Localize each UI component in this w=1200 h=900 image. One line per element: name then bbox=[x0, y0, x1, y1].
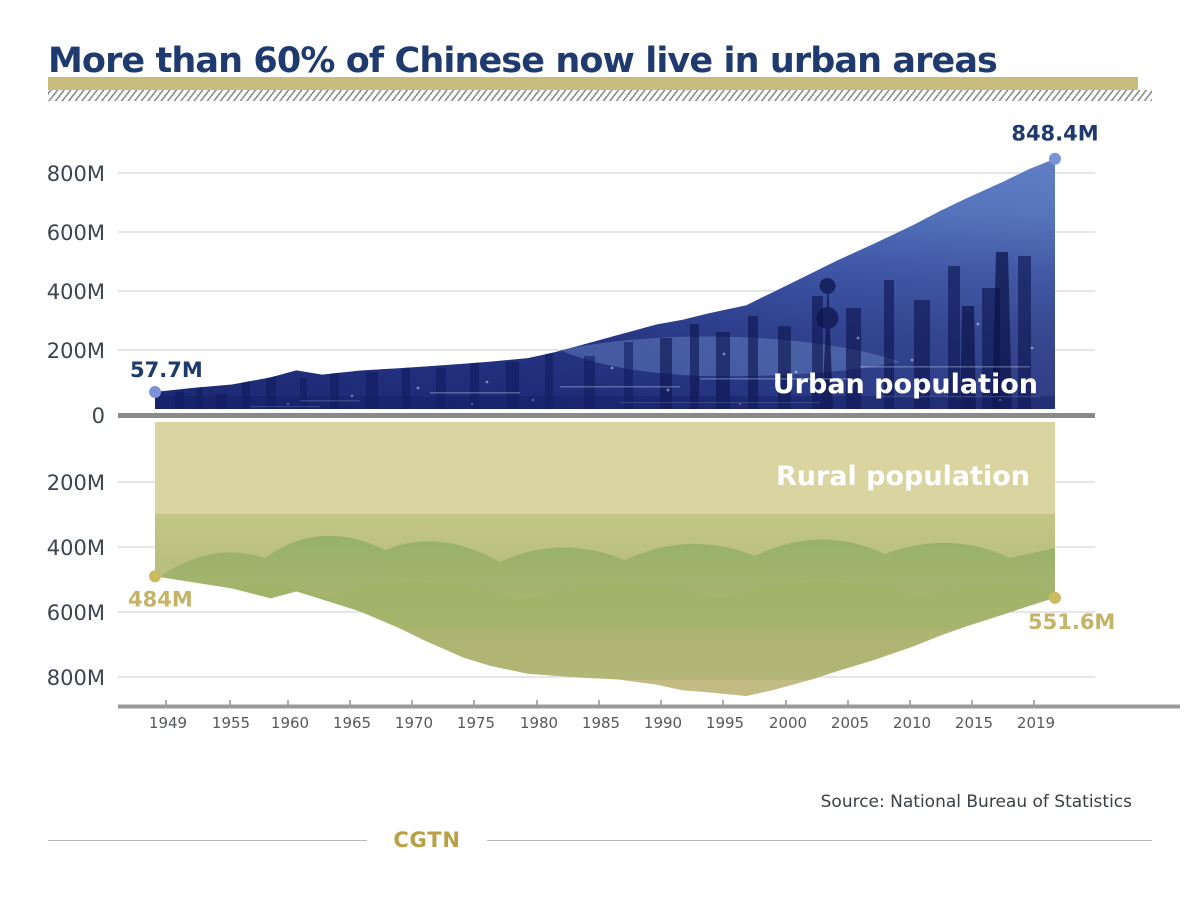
svg-text:1990: 1990 bbox=[644, 714, 682, 732]
population-area-chart: Urban population Rural population 800M 6… bbox=[0, 110, 1200, 750]
marker-rural-start bbox=[149, 570, 161, 582]
svg-text:1985: 1985 bbox=[582, 714, 620, 732]
y-axis-urban: 800M 600M 400M 200M 0 bbox=[47, 162, 105, 428]
marker-urban-end bbox=[1049, 153, 1061, 165]
svg-text:0: 0 bbox=[92, 404, 105, 428]
annotation-rural-start: 484M bbox=[128, 587, 193, 611]
annotation-rural-end: 551.6M bbox=[1028, 610, 1115, 634]
svg-text:1965: 1965 bbox=[333, 714, 371, 732]
svg-text:800M: 800M bbox=[47, 162, 105, 186]
svg-text:600M: 600M bbox=[47, 601, 105, 625]
svg-text:1949: 1949 bbox=[149, 714, 187, 732]
svg-text:200M: 200M bbox=[47, 339, 105, 363]
svg-text:1980: 1980 bbox=[520, 714, 558, 732]
svg-text:400M: 400M bbox=[47, 280, 105, 304]
x-axis-tick-labels: 1949 1955 1960 1965 1970 1975 1980 1985 … bbox=[149, 714, 1055, 732]
svg-text:600M: 600M bbox=[47, 221, 105, 245]
marker-rural-end bbox=[1049, 592, 1061, 604]
svg-text:2010: 2010 bbox=[893, 714, 931, 732]
svg-text:1960: 1960 bbox=[271, 714, 309, 732]
svg-text:2005: 2005 bbox=[831, 714, 869, 732]
series-label-urban: Urban population bbox=[773, 369, 1038, 400]
footer-bar: CGTN bbox=[48, 828, 1152, 852]
annotation-urban-start: 57.7M bbox=[130, 358, 203, 382]
svg-text:400M: 400M bbox=[47, 536, 105, 560]
title-block: More than 60% of Chinese now live in urb… bbox=[48, 36, 1152, 98]
svg-text:2019: 2019 bbox=[1017, 714, 1055, 732]
svg-text:800M: 800M bbox=[47, 666, 105, 690]
footer-rule-left bbox=[48, 840, 367, 841]
cgtn-logo: CGTN bbox=[367, 828, 486, 852]
source-note: Source: National Bureau of Statistics bbox=[821, 792, 1132, 812]
svg-text:2000: 2000 bbox=[769, 714, 807, 732]
series-label-rural: Rural population bbox=[776, 461, 1030, 492]
page-title: More than 60% of Chinese now live in urb… bbox=[48, 36, 997, 86]
marker-urban-start bbox=[149, 386, 161, 398]
svg-text:1955: 1955 bbox=[212, 714, 250, 732]
svg-text:1970: 1970 bbox=[395, 714, 433, 732]
infographic-page: More than 60% of Chinese now live in urb… bbox=[0, 0, 1200, 900]
svg-text:1975: 1975 bbox=[457, 714, 495, 732]
annotation-urban-end: 848.4M bbox=[1011, 122, 1098, 146]
svg-text:2015: 2015 bbox=[955, 714, 993, 732]
y-axis-rural: 200M 400M 600M 800M bbox=[47, 471, 105, 690]
hatched-divider bbox=[48, 90, 1152, 101]
chart-container: Urban population Rural population 800M 6… bbox=[0, 110, 1200, 750]
svg-text:1995: 1995 bbox=[706, 714, 744, 732]
svg-text:200M: 200M bbox=[47, 471, 105, 495]
footer-rule-right bbox=[487, 840, 1152, 841]
